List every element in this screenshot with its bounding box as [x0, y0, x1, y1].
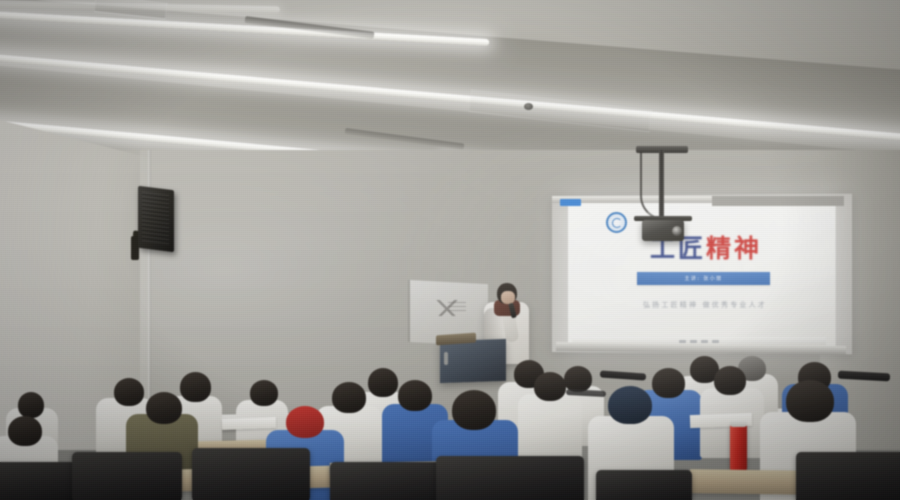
audience-head-r1-3	[452, 390, 496, 430]
red-thermos-bottle	[730, 424, 747, 472]
audience-head-r1-2-red-cap	[286, 406, 324, 438]
taskbar-item-3	[701, 340, 708, 343]
speaker-grill-icon	[142, 191, 169, 244]
chair-back-4	[330, 462, 450, 500]
audience-torso-r2-4	[518, 394, 582, 464]
chair-back-1	[0, 462, 76, 500]
slide-logo-icon	[606, 212, 627, 233]
slide-presenter-text: 主讲: 张小丽	[684, 275, 722, 282]
presenter-face	[501, 291, 515, 304]
projector-lens-icon	[672, 226, 682, 236]
audience-head-r3-2	[114, 378, 144, 406]
chair-back-7	[796, 452, 900, 500]
audience-head-r1-5	[786, 380, 834, 422]
audience-head-r3-5	[368, 368, 398, 397]
whiteboard-marking-2	[448, 302, 466, 313]
slide-title-char-4: 神	[734, 236, 760, 261]
taskbar-item-1	[679, 340, 686, 343]
chair-back-6	[596, 470, 692, 500]
audience-head-r1-4	[608, 386, 652, 424]
audience-head-r2-3	[398, 380, 432, 411]
smoke-detector-icon	[524, 103, 533, 110]
slide-subtitle: 弘扬工匠精神 做优秀专业人才	[625, 300, 785, 310]
audience-head-r2-6	[714, 366, 746, 395]
chair-back-2	[72, 452, 182, 500]
audience-head-r2-4	[534, 372, 566, 401]
slide-title-char-3: 精	[706, 236, 732, 261]
audience-head-r3-4	[250, 380, 278, 406]
audience-head-r1-1	[8, 416, 42, 446]
audience-head-r2-5	[652, 368, 685, 398]
slide-presenter-bar: 主讲: 张小丽	[637, 272, 770, 285]
podium	[440, 339, 506, 383]
projector-mount-pole	[659, 150, 664, 222]
chair-back-5	[436, 456, 584, 500]
lecture-room-photo: 工 匠 精 神 主讲: 张小丽 弘扬工匠精神 做优秀专业人才	[0, 0, 900, 500]
podium-handle	[444, 352, 448, 365]
chair-back-3	[192, 448, 310, 500]
audience-head-r3-1	[18, 392, 44, 418]
audience-head-r2-1	[146, 392, 182, 424]
taskbar-item-4	[712, 340, 719, 343]
thermos-cap	[730, 420, 747, 427]
taskbar-item-2	[690, 340, 697, 343]
desk-papers-2	[222, 417, 276, 430]
audience-head-r2-2	[332, 382, 366, 413]
screen-top-shadow	[712, 196, 844, 206]
slide-ui-blue-tab	[560, 199, 581, 206]
audience-head-r3-3	[180, 372, 211, 402]
